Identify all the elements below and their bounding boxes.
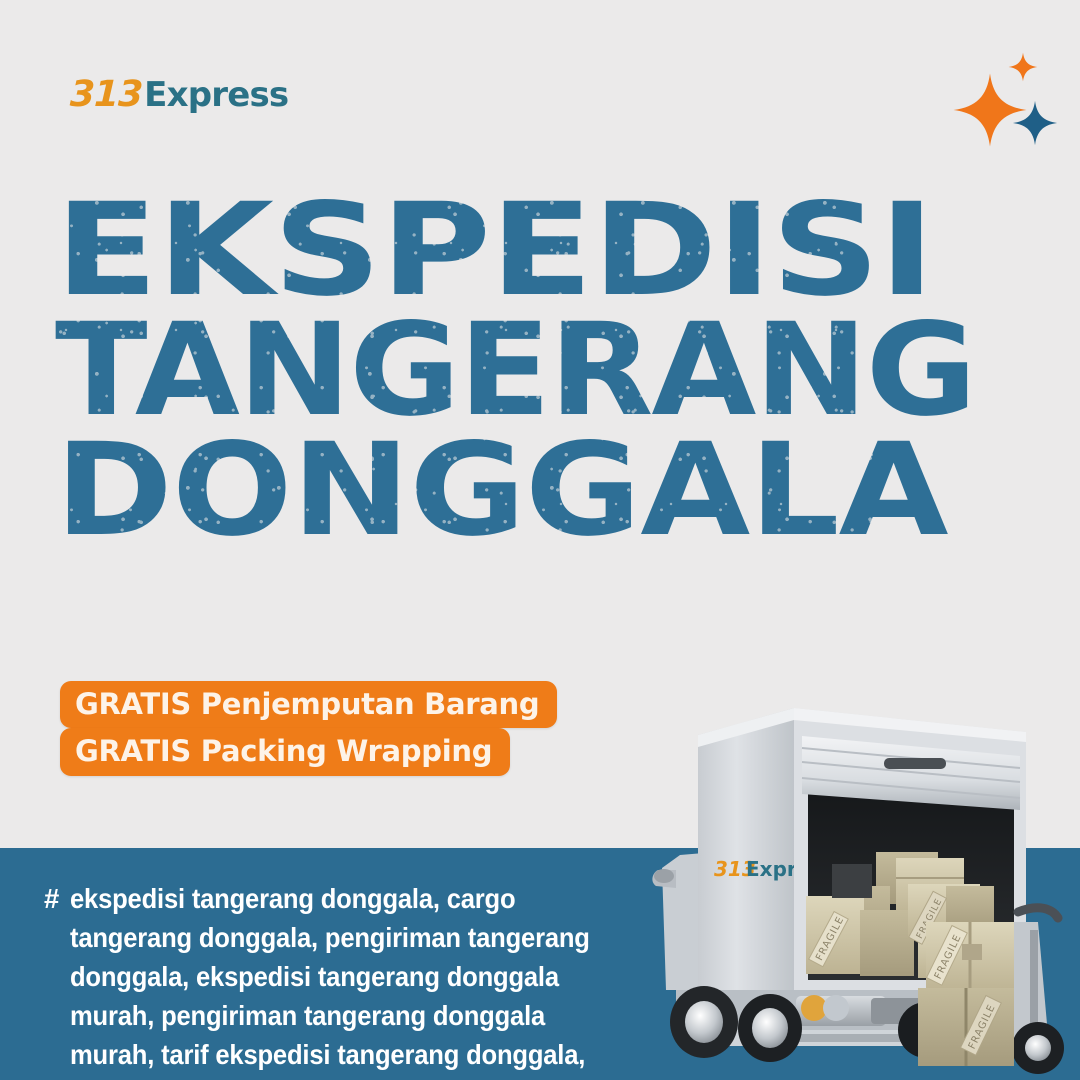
hand-truck-dolly: FRAGILE FRAGILE: [918, 908, 1064, 1074]
badge-packing-rest: Packing Wrapping: [191, 734, 492, 768]
truck-front-wheel: [670, 986, 738, 1058]
badge-pickup-rest: Penjemputan Barang: [191, 687, 539, 721]
box-flap: [962, 944, 982, 960]
delivery-truck-illustration: 313 Express: [646, 690, 1080, 1080]
truck-body-side: [698, 708, 794, 990]
poster-canvas: 313 Express EKSPEDISI TANGERANG DONGGALA…: [0, 0, 1080, 1080]
truck-rear-wheel: [738, 994, 802, 1062]
headline-line-3: DONGGALA: [55, 436, 1080, 546]
brand-logo-word: Express: [144, 75, 288, 115]
dolly-hub: [1025, 1035, 1051, 1061]
truck-tail-light: [823, 995, 849, 1021]
sparkle-cluster: [952, 50, 1062, 155]
badge-packing-strong: GRATIS: [75, 734, 191, 768]
headline-line-2: TANGERANG: [55, 316, 1073, 426]
brand-logo: 313 Express: [70, 74, 288, 115]
badge-packing[interactable]: GRATIS Packing Wrapping: [60, 728, 510, 775]
truck-svg: 313 Express: [646, 690, 1080, 1080]
badge-list: GRATIS Penjemputan Barang GRATIS Packing…: [60, 681, 557, 776]
hash-symbol: #: [44, 879, 59, 1080]
shutter-handle: [884, 758, 946, 769]
headline-line-1: EKSPEDISI: [55, 196, 1080, 306]
cargo-box-shadowed: [832, 864, 872, 898]
hashtag-keywords: ekspedisi tangerang donggala, cargo tang…: [70, 879, 590, 1080]
sparkle-small-orange-icon: [1008, 52, 1038, 82]
brand-logo-number: 313: [69, 74, 143, 115]
hashtag-paragraph: # ekspedisi tangerang donggala, cargo ta…: [44, 879, 629, 1080]
cargo-box: [860, 910, 914, 976]
truck-mirror-glass: [654, 869, 674, 883]
badge-pickup[interactable]: GRATIS Penjemputan Barang: [60, 681, 557, 728]
badge-pickup-strong: GRATIS: [75, 687, 191, 721]
sparkle-blue-icon: [1012, 100, 1058, 146]
headline-block: EKSPEDISI TANGERANG DONGGALA: [55, 196, 1015, 546]
